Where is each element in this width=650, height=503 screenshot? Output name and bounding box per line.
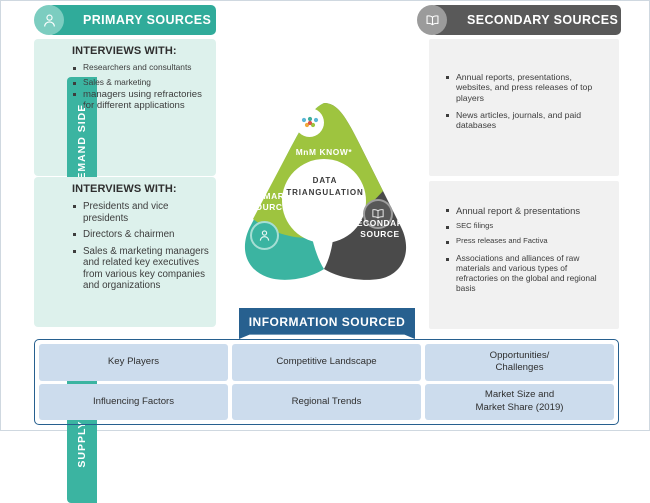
book-icon xyxy=(417,5,447,35)
dots-cluster-icon xyxy=(295,108,324,137)
table-cell-key-players[interactable]: Key Players xyxy=(39,344,228,381)
supply-side-body: INTERVIEWS WITH: Presidents and vice pre… xyxy=(72,183,210,297)
secondary-panel-2-body: Annual report & presentations SEC filing… xyxy=(445,205,607,300)
data-triangulation-diagram: MnM KNOW* PRIMARY SOURCE SECONDARY SOURC… xyxy=(233,99,415,291)
supply-side-title: INTERVIEWS WITH: xyxy=(72,183,210,195)
list-item: Researchers and consultants xyxy=(72,63,208,73)
data-triangulation-center-text: DATA TRIANGULATION xyxy=(279,175,371,200)
primary-sources-header: PRIMARY SOURCES xyxy=(48,5,216,35)
secondary-panel-2-list: Annual report & presentations SEC filing… xyxy=(445,205,607,294)
table-cell-market-size-share[interactable]: Market Size and Market Share (2019) xyxy=(425,384,614,421)
person-icon xyxy=(34,5,64,35)
supply-side-list: Presidents and vice presidents Directors… xyxy=(72,201,210,292)
list-item: News articles, journals, and paid databa… xyxy=(445,110,607,131)
list-item: Press releases and Factiva xyxy=(445,237,607,246)
list-item: Directors & chairmen xyxy=(72,229,210,241)
table-row: Influencing Factors Regional Trends Mark… xyxy=(39,384,614,421)
information-sourced-banner: INFORMATION SOURCED xyxy=(239,308,415,339)
list-item: Presidents and vice presidents xyxy=(72,201,210,224)
primary-sources-header-label: PRIMARY SOURCES xyxy=(83,13,211,27)
triangle-label-mnm-know: MnM KNOW* xyxy=(270,147,378,157)
list-item: Annual report & presentations xyxy=(445,205,607,216)
list-item: Associations and alliances of raw materi… xyxy=(445,254,607,294)
secondary-panel-1-list: Annual reports, presentations, websites,… xyxy=(445,72,607,130)
triangle-label-secondary-source: SECONDARY SOURCE xyxy=(341,218,419,241)
demand-side-list: Researchers and consultants Sales & mark… xyxy=(72,63,208,111)
list-item: Sales & marketing xyxy=(72,78,208,88)
secondary-panel-2: Annual report & presentations SEC filing… xyxy=(429,181,619,329)
table-cell-competitive-landscape[interactable]: Competitive Landscape xyxy=(232,344,421,381)
table-cell-opportunities-challenges[interactable]: Opportunities/ Challenges xyxy=(425,344,614,381)
demand-side-panel: DEMAND SIDE INTERVIEWS WITH: Researchers… xyxy=(34,39,216,176)
secondary-sources-header-label: SECONDARY SOURCES xyxy=(467,13,618,27)
secondary-panel-1-body: Annual reports, presentations, websites,… xyxy=(445,72,607,137)
secondary-sources-header: SECONDARY SOURCES xyxy=(431,5,621,35)
list-item: managers using refractories for differen… xyxy=(72,89,208,112)
list-item: Sales & marketing managers and related k… xyxy=(72,246,210,292)
person-icon xyxy=(250,221,279,250)
table-cell-regional-trends[interactable]: Regional Trends xyxy=(232,384,421,421)
table-row: Key Players Competitive Landscape Opport… xyxy=(39,344,614,381)
center-text-line1: DATA xyxy=(279,175,371,187)
list-item: Annual reports, presentations, websites,… xyxy=(445,72,607,103)
center-text-line2: TRIANGULATION xyxy=(279,187,371,199)
information-sourced-table: Key Players Competitive Landscape Opport… xyxy=(34,339,619,425)
supply-side-panel: SUPPLY SIDE INTERVIEWS WITH: Presidents … xyxy=(34,177,216,327)
research-methodology-infographic: PRIMARY SOURCES DEMAND SIDE INTERVIEWS W… xyxy=(0,0,650,431)
information-sourced-label: INFORMATION SOURCED xyxy=(249,315,406,329)
demand-side-title: INTERVIEWS WITH: xyxy=(72,45,208,57)
table-cell-influencing-factors[interactable]: Influencing Factors xyxy=(39,384,228,421)
demand-side-body: INTERVIEWS WITH: Researchers and consult… xyxy=(72,45,208,116)
list-item: SEC filings xyxy=(445,222,607,231)
secondary-panel-1: Annual reports, presentations, websites,… xyxy=(429,39,619,176)
